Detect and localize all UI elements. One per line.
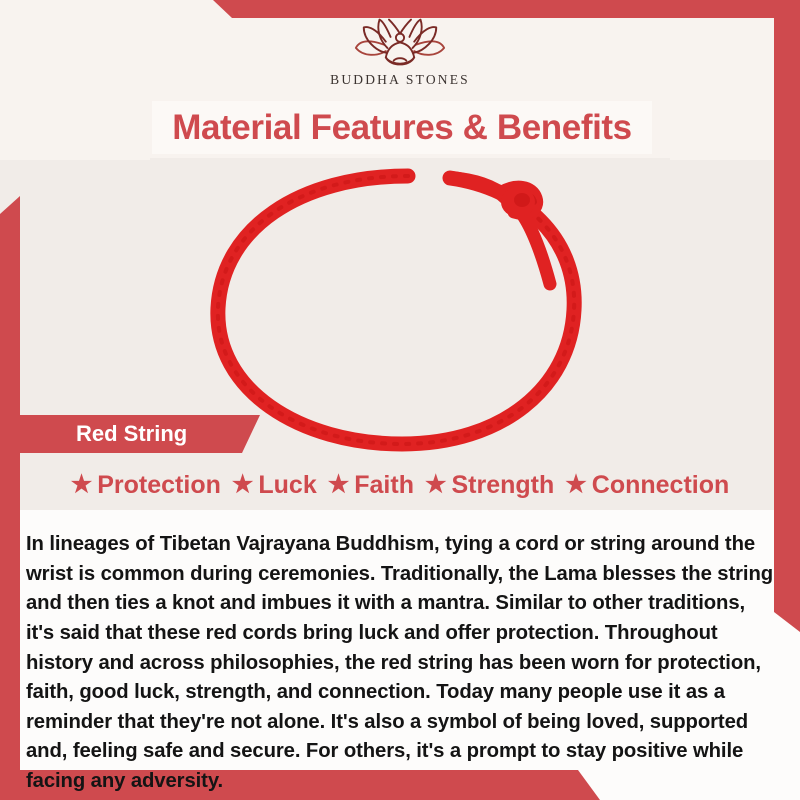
page-title: Material Features & Benefits	[172, 108, 632, 148]
product-image-red-bracelet	[150, 158, 670, 458]
benefit-label: Protection	[97, 471, 221, 500]
benefit-item: ★ Luck	[232, 471, 317, 500]
star-icon: ★	[232, 473, 254, 497]
benefit-label: Luck	[258, 471, 316, 500]
star-icon: ★	[328, 473, 350, 497]
benefit-item: ★ Strength	[425, 471, 554, 500]
benefits-row: ★ Protection ★ Luck ★ Faith ★ Strength ★…	[20, 464, 780, 506]
brand-logo: BUDDHA STONES	[0, 18, 800, 100]
infographic-page: BUDDHA STONES Material Features & Benefi…	[0, 0, 800, 800]
benefit-label: Strength	[451, 471, 554, 500]
benefit-label: Faith	[354, 471, 414, 500]
product-label: Red String	[76, 421, 187, 447]
benefit-label: Connection	[592, 471, 730, 500]
benefit-item: ★ Faith	[328, 471, 414, 500]
star-icon: ★	[565, 473, 587, 497]
star-icon: ★	[71, 473, 93, 497]
benefit-item: ★ Protection	[71, 471, 221, 500]
benefit-item: ★ Connection	[565, 471, 729, 500]
star-icon: ★	[425, 473, 447, 497]
brand-name: BUDDHA STONES	[330, 72, 470, 88]
description-text: In lineages of Tibetan Vajrayana Buddhis…	[26, 530, 774, 796]
product-label-banner: Red String	[20, 415, 260, 453]
left-red-band	[0, 196, 20, 800]
lotus-meditation-icon	[352, 18, 448, 70]
title-banner: Material Features & Benefits	[152, 101, 652, 154]
